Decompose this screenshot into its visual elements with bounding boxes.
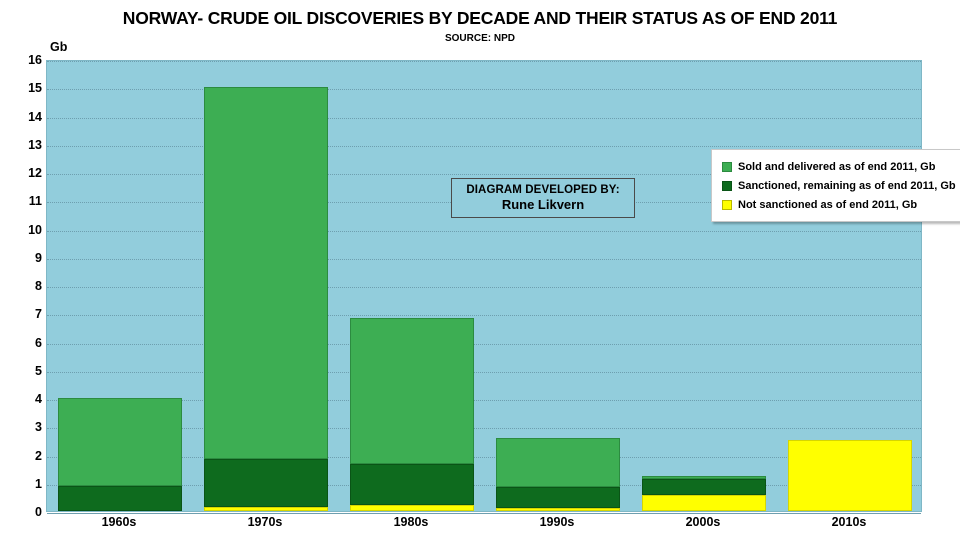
legend-item[interactable]: Not sanctioned as of end 2011, Gb [722,195,960,214]
bar-segment[interactable] [496,508,621,511]
bar-group[interactable] [58,59,183,511]
y-axis-tick: 16 [8,53,42,67]
bar-segment[interactable] [788,440,913,511]
y-axis-tick: 0 [8,505,42,519]
bar-group[interactable] [350,59,475,511]
legend-swatch-icon [722,181,732,191]
y-axis-tick: 7 [8,307,42,321]
chart-legend: Sold and delivered as of end 2011, GbSan… [711,149,960,222]
legend-item[interactable]: Sanctioned, remaining as of end 2011, Gb [722,176,960,195]
bar-segment[interactable] [204,507,329,511]
bar-group[interactable] [204,59,329,511]
x-axis-tick: 1990s [484,515,630,529]
x-axis-tick: 1970s [192,515,338,529]
bar-segment[interactable] [642,479,767,496]
legend-swatch-icon [722,200,732,210]
y-axis-tick: 6 [8,336,42,350]
bar-segment[interactable] [204,459,329,507]
chart-title: NORWAY- CRUDE OIL DISCOVERIES BY DECADE … [0,8,960,29]
x-axis-tick: 2000s [630,515,776,529]
bar-group[interactable] [496,59,621,511]
bar-segment[interactable] [204,87,329,458]
y-axis-tick: 8 [8,279,42,293]
y-axis-tick: 1 [8,477,42,491]
x-axis-tick: 1960s [46,515,192,529]
y-axis-tick: 5 [8,364,42,378]
y-axis-tick: 2 [8,449,42,463]
legend-label: Not sanctioned as of end 2011, Gb [738,199,917,211]
attribution-heading: DIAGRAM DEVELOPED BY: [466,184,619,196]
bar-segment[interactable] [496,487,621,508]
y-axis-tick: 4 [8,392,42,406]
legend-label: Sanctioned, remaining as of end 2011, Gb [738,180,956,192]
y-axis-tick: 13 [8,138,42,152]
x-axis-tick-labels: 1960s1970s1980s1990s2000s2010s [46,515,922,539]
bar-segment[interactable] [350,505,475,511]
legend-swatch-icon [722,162,732,172]
gridline [47,513,921,514]
y-axis-tick: 3 [8,420,42,434]
attribution-box: DIAGRAM DEVELOPED BY: Rune Likvern [451,178,635,218]
legend-label: Sold and delivered as of end 2011, Gb [738,161,935,173]
y-axis-tick: 15 [8,81,42,95]
plot-area: DIAGRAM DEVELOPED BY: Rune Likvern Sold … [46,60,922,512]
x-axis-tick: 1980s [338,515,484,529]
y-axis-tick: 14 [8,110,42,124]
y-axis-tick: 12 [8,166,42,180]
y-axis-tick: 10 [8,223,42,237]
bar-segment[interactable] [350,464,475,505]
x-axis-tick: 2010s [776,515,922,529]
attribution-author: Rune Likvern [502,197,584,212]
legend-item[interactable]: Sold and delivered as of end 2011, Gb [722,157,960,176]
bar-segment[interactable] [642,495,767,511]
bar-segment[interactable] [496,438,621,487]
bar-segment[interactable] [642,476,767,479]
y-axis-unit-label: Gb [50,40,67,54]
chart-subtitle: SOURCE: NPD [0,33,960,44]
bar-group[interactable] [642,59,767,511]
bar-segment[interactable] [58,398,183,486]
bar-segment[interactable] [58,486,183,511]
y-axis-tick: 11 [8,194,42,208]
y-axis-tick: 9 [8,251,42,265]
bar-segment[interactable] [350,318,475,465]
chart-container: NORWAY- CRUDE OIL DISCOVERIES BY DECADE … [0,0,960,540]
bar-group[interactable] [788,59,913,511]
y-axis-tick-labels: 012345678910111213141516 [0,60,42,512]
